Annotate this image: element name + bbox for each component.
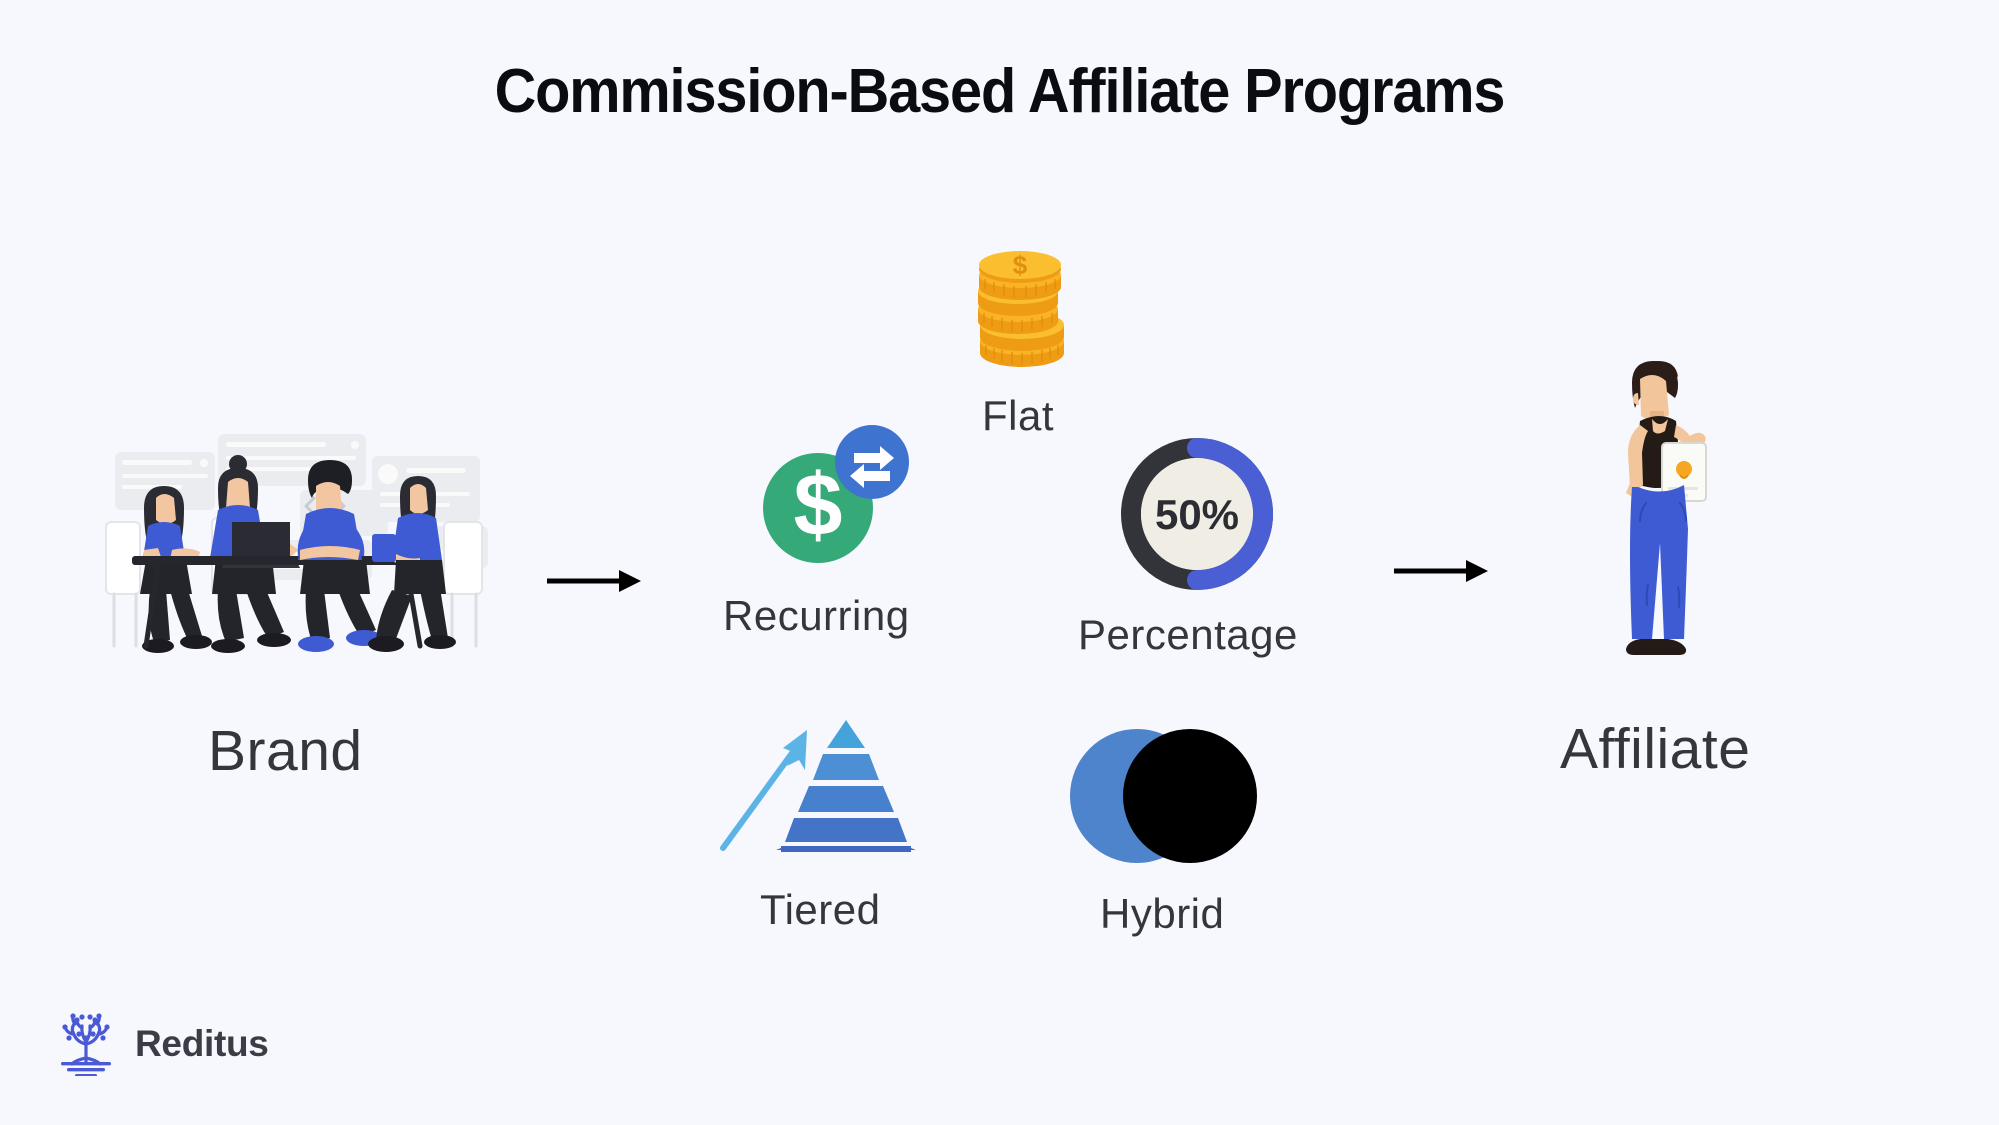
arrow-brand-to-models	[545, 566, 645, 601]
page-title: Commission-Based Affiliate Programs	[70, 56, 1929, 127]
overlapping-circles-icon	[1062, 718, 1262, 873]
tiered-icon-block	[715, 700, 933, 860]
svg-text:$: $	[1013, 250, 1028, 280]
donut-progress-icon: 50%	[1118, 435, 1276, 593]
pyramid-with-growth-arrow-icon	[715, 700, 933, 855]
percentage-value: 50%	[1155, 491, 1239, 538]
brand-label: Brand	[208, 718, 363, 784]
recurring-label: Recurring	[723, 592, 910, 640]
percentage-label: Percentage	[1078, 611, 1298, 659]
reditus-tree-logo	[55, 1012, 117, 1076]
flat-icon-block: $	[970, 245, 1075, 380]
affiliate-illustration	[1600, 355, 1720, 665]
affiliate-label: Affiliate	[1560, 716, 1750, 782]
tiered-label: Tiered	[760, 886, 881, 934]
hybrid-label: Hybrid	[1100, 890, 1224, 938]
hybrid-icon-block	[1062, 718, 1262, 878]
brand-illustration	[100, 430, 510, 670]
brand-name: Reditus	[135, 1023, 269, 1065]
svg-text:$: $	[794, 455, 843, 554]
dollar-circle-with-repeat-icon: $	[750, 425, 910, 570]
flat-label: Flat	[982, 392, 1054, 440]
brand-logo[interactable]: Reditus	[55, 1012, 269, 1076]
coin-stack-icon: $	[970, 245, 1075, 375]
arrow-models-to-affiliate	[1392, 556, 1492, 591]
percentage-icon-block: 50%	[1118, 435, 1276, 598]
recurring-icon-block: $	[750, 425, 910, 575]
